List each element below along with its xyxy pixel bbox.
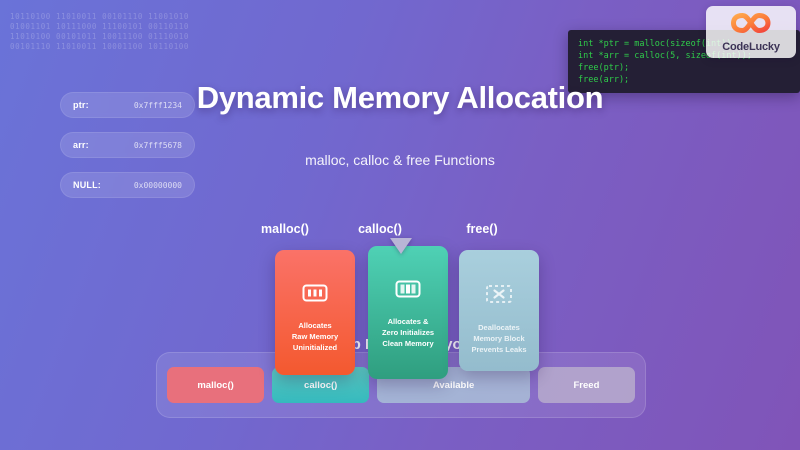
brand-name: CodeLucky <box>722 41 780 53</box>
dashed-block-x-icon <box>485 284 513 309</box>
brand-badge[interactable]: CodeLucky <box>706 6 796 58</box>
memory-pill-label: NULL: <box>73 180 101 190</box>
function-description: Allocates Raw Memory Uninitialized <box>288 320 342 353</box>
function-description: Allocates & Zero Initializes Clean Memor… <box>378 316 438 349</box>
code-line: free(ptr); <box>578 62 790 74</box>
binary-background-text: 10110100 11010011 00101110 11001010 0100… <box>10 12 189 52</box>
function-card-malloc[interactable]: Allocates Raw Memory Uninitialized <box>275 250 355 375</box>
memory-pill-value: 0x00000000 <box>134 181 182 190</box>
function-label-calloc: calloc() <box>325 222 435 236</box>
page-subtitle: malloc, calloc & free Functions <box>0 152 800 168</box>
memory-chip-filled-icon <box>395 280 421 303</box>
memory-pill-value: 0x7fff5678 <box>134 141 182 150</box>
function-description: Deallocates Memory Block Prevents Leaks <box>467 322 530 355</box>
function-label-free: free() <box>427 222 537 236</box>
function-card-calloc[interactable]: Allocates & Zero Initializes Clean Memor… <box>368 246 448 379</box>
slide-canvas: 10110100 11010011 00101110 11001010 0100… <box>0 0 800 450</box>
memory-pill-label: arr: <box>73 140 89 150</box>
function-label-malloc: malloc() <box>230 222 340 236</box>
function-card-free[interactable]: Deallocates Memory Block Prevents Leaks <box>459 250 539 371</box>
page-title: Dynamic Memory Allocation <box>0 80 800 116</box>
heap-segment-freed[interactable]: Freed <box>538 367 635 403</box>
cursor-triangle-icon <box>390 238 412 254</box>
memory-chip-icon <box>302 284 328 307</box>
heap-segment-malloc[interactable]: malloc() <box>167 367 264 403</box>
memory-pill-null[interactable]: NULL: 0x00000000 <box>60 172 195 198</box>
infinity-loop-icon <box>731 11 771 40</box>
